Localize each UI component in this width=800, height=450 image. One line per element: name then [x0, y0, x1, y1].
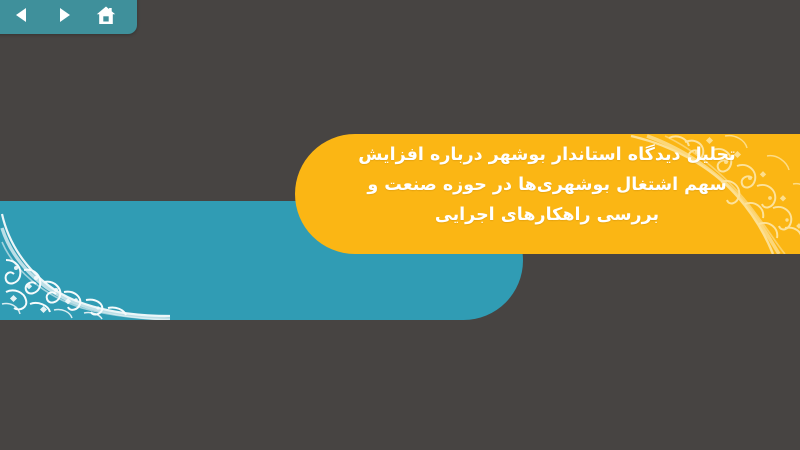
title-line-2: سهم اشتغال بوشهری‌ها در حوزه صنعت و: [337, 170, 757, 200]
title-panel: تحلیل دیدگاه استاندار بوشهر درباره افزای…: [295, 134, 800, 254]
arabesque-ornament-icon: [0, 208, 172, 320]
page-title: تحلیل دیدگاه استاندار بوشهر درباره افزای…: [337, 140, 757, 230]
triangle-right-icon: [55, 6, 73, 24]
home-button[interactable]: [93, 3, 119, 27]
home-icon: [96, 6, 116, 25]
slide-canvas: تحلیل دیدگاه استاندار بوشهر درباره افزای…: [0, 0, 800, 450]
title-line-3: بررسی راهکارهای اجرایی: [337, 200, 757, 230]
back-button[interactable]: [9, 3, 35, 27]
title-line-1: تحلیل دیدگاه استاندار بوشهر درباره افزای…: [337, 140, 757, 170]
forward-button[interactable]: [51, 3, 77, 27]
navigation-bar: [0, 0, 137, 34]
triangle-left-icon: [13, 6, 31, 24]
